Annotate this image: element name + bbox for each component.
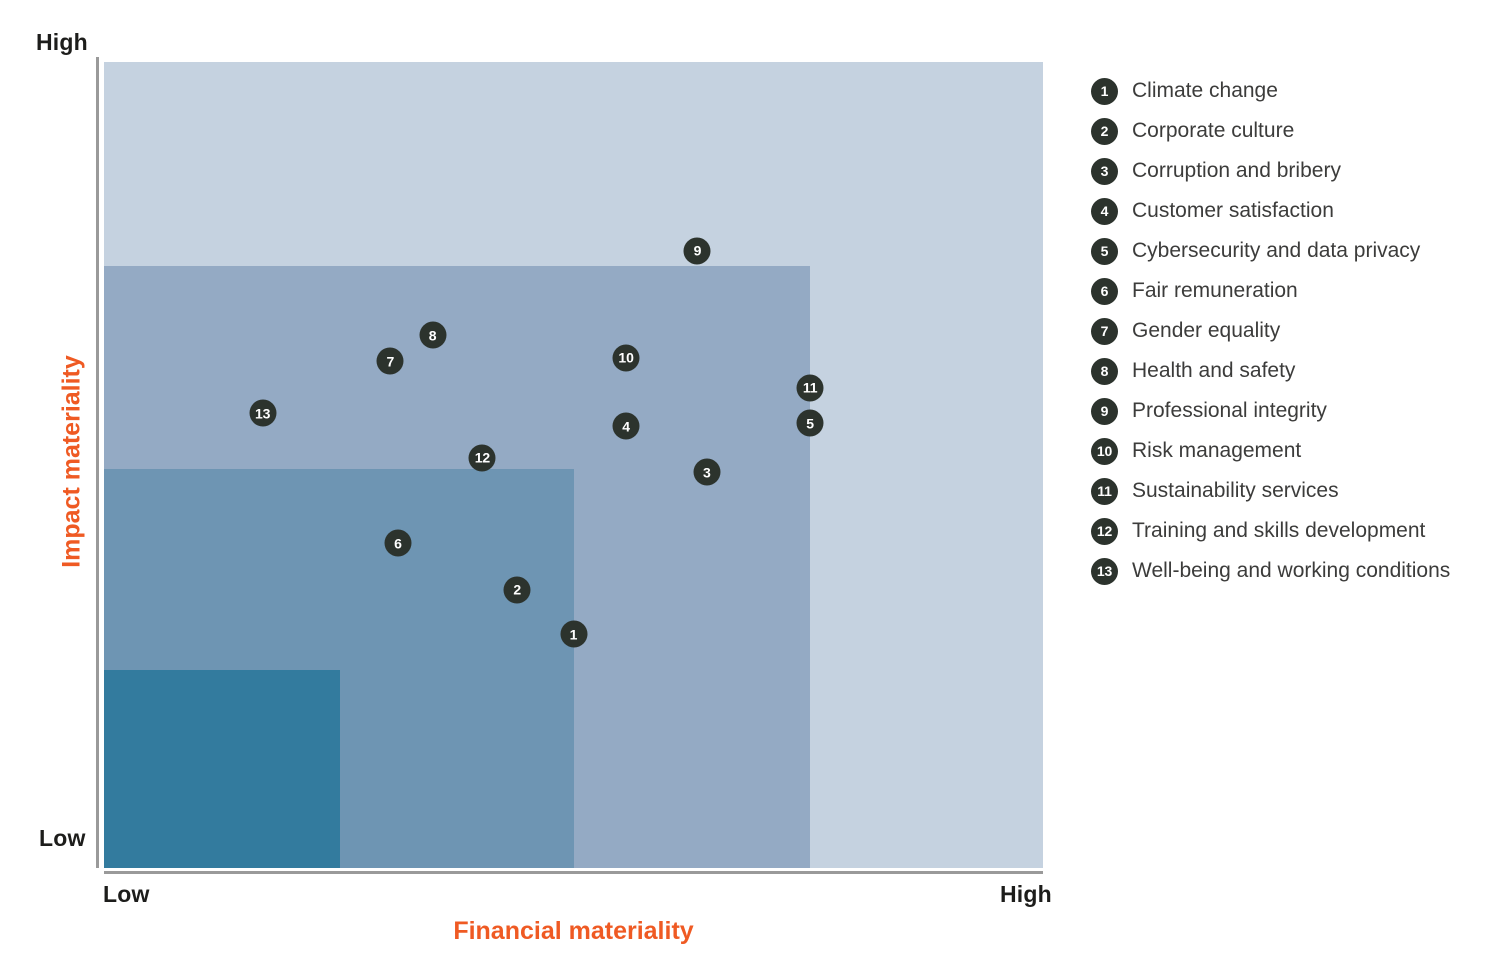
legend-item-3[interactable]: 3Corruption and bribery [1091, 151, 1491, 191]
legend-item-label: Health and safety [1132, 359, 1295, 383]
y-axis-low-label: Low [39, 825, 86, 852]
legend-badge-icon-12: 12 [1091, 518, 1118, 545]
x-axis-low-label: Low [103, 881, 150, 908]
legend-badge-icon-11: 11 [1091, 478, 1118, 505]
legend-item-label: Cybersecurity and data privacy [1132, 239, 1420, 263]
data-point-marker-5[interactable]: 5 [797, 410, 824, 437]
legend-item-11[interactable]: 11Sustainability services [1091, 471, 1491, 511]
y-axis-line [96, 57, 99, 868]
legend-item-5[interactable]: 5Cybersecurity and data privacy [1091, 231, 1491, 271]
data-point-marker-4[interactable]: 4 [613, 413, 640, 440]
materiality-band-darkest [104, 670, 340, 868]
legend-item-10[interactable]: 10Risk management [1091, 431, 1491, 471]
plot-area: 12345678910111213 [104, 62, 1043, 868]
x-axis-high-label: High [1000, 881, 1052, 908]
legend-item-label: Risk management [1132, 439, 1301, 463]
legend-item-1[interactable]: 1Climate change [1091, 71, 1491, 111]
data-point-marker-6[interactable]: 6 [384, 530, 411, 557]
y-axis-title: Impact materiality [58, 332, 87, 592]
data-point-marker-10[interactable]: 10 [613, 344, 640, 371]
data-point-marker-13[interactable]: 13 [249, 400, 276, 427]
data-point-marker-8[interactable]: 8 [419, 322, 446, 349]
legend: 1Climate change2Corporate culture3Corrup… [1091, 71, 1491, 591]
legend-item-8[interactable]: 8Health and safety [1091, 351, 1491, 391]
legend-item-2[interactable]: 2Corporate culture [1091, 111, 1491, 151]
legend-item-label: Fair remuneration [1132, 279, 1298, 303]
data-point-marker-12[interactable]: 12 [469, 444, 496, 471]
legend-badge-icon-5: 5 [1091, 238, 1118, 265]
legend-badge-icon-10: 10 [1091, 438, 1118, 465]
legend-item-label: Professional integrity [1132, 399, 1327, 423]
legend-badge-icon-8: 8 [1091, 358, 1118, 385]
legend-badge-icon-7: 7 [1091, 318, 1118, 345]
legend-item-label: Training and skills development [1132, 519, 1425, 543]
legend-item-label: Gender equality [1132, 319, 1280, 343]
legend-item-label: Climate change [1132, 79, 1278, 103]
legend-item-label: Corporate culture [1132, 119, 1294, 143]
x-axis-title: Financial materiality [104, 917, 1043, 946]
legend-item-label: Sustainability services [1132, 479, 1339, 503]
legend-item-6[interactable]: 6Fair remuneration [1091, 271, 1491, 311]
legend-badge-icon-4: 4 [1091, 198, 1118, 225]
legend-item-7[interactable]: 7Gender equality [1091, 311, 1491, 351]
data-point-marker-11[interactable]: 11 [797, 374, 824, 401]
legend-item-label: Corruption and bribery [1132, 159, 1341, 183]
legend-item-13[interactable]: 13Well-being and working conditions [1091, 551, 1491, 591]
legend-badge-icon-9: 9 [1091, 398, 1118, 425]
data-point-marker-1[interactable]: 1 [560, 621, 587, 648]
legend-badge-icon-13: 13 [1091, 558, 1118, 585]
legend-item-9[interactable]: 9Professional integrity [1091, 391, 1491, 431]
data-point-marker-7[interactable]: 7 [377, 348, 404, 375]
legend-item-label: Well-being and working conditions [1132, 559, 1450, 583]
data-point-marker-9[interactable]: 9 [684, 237, 711, 264]
legend-badge-icon-6: 6 [1091, 278, 1118, 305]
legend-item-12[interactable]: 12Training and skills development [1091, 511, 1491, 551]
data-point-marker-3[interactable]: 3 [693, 459, 720, 486]
legend-badge-icon-1: 1 [1091, 78, 1118, 105]
y-axis-high-label: High [36, 29, 88, 56]
x-axis-line [104, 871, 1043, 874]
legend-item-label: Customer satisfaction [1132, 199, 1334, 223]
legend-badge-icon-3: 3 [1091, 158, 1118, 185]
data-point-marker-2[interactable]: 2 [504, 576, 531, 603]
legend-badge-icon-2: 2 [1091, 118, 1118, 145]
legend-item-4[interactable]: 4Customer satisfaction [1091, 191, 1491, 231]
materiality-matrix-chart: High Low Low High Impact materiality Fin… [0, 0, 1504, 968]
